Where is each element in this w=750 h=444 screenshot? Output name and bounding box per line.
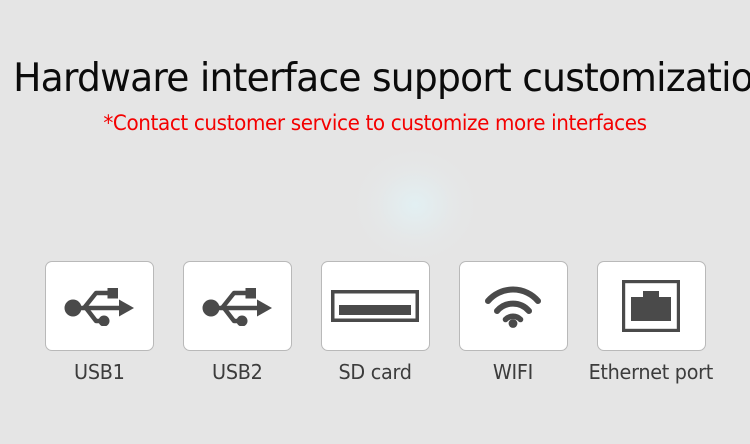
- usb-icon: [202, 286, 272, 326]
- usb1-icon-box[interactable]: [45, 261, 154, 351]
- interface-item-sd-card[interactable]: SD card: [312, 261, 438, 385]
- interface-item-usb1[interactable]: USB1: [36, 261, 162, 385]
- interface-label-ethernet-port: Ethernet port: [589, 359, 713, 385]
- sd-card-icon-box[interactable]: [321, 261, 430, 351]
- interface-item-usb2[interactable]: USB2: [174, 261, 300, 385]
- interface-label-wifi: WIFI: [493, 359, 533, 385]
- page-title: Hardware interface support customization: [13, 57, 737, 101]
- page-subtitle-note: *Contact customer service to customize m…: [19, 110, 732, 136]
- ethernet-rj45-icon: [622, 280, 680, 332]
- wifi-icon: [485, 284, 541, 328]
- ethernet-icon-box[interactable]: [597, 261, 706, 351]
- background-glow: [355, 150, 475, 260]
- sd-card-slot-icon: [331, 290, 419, 322]
- interface-label-usb1: USB1: [74, 359, 124, 385]
- interface-item-ethernet-port[interactable]: Ethernet port: [588, 261, 714, 385]
- interface-label-usb2: USB2: [212, 359, 262, 385]
- usb-icon: [64, 286, 134, 326]
- interface-label-sd-card: SD card: [338, 359, 411, 385]
- interface-item-wifi[interactable]: WIFI: [450, 261, 576, 385]
- usb2-icon-box[interactable]: [183, 261, 292, 351]
- wifi-icon-box[interactable]: [459, 261, 568, 351]
- interface-list: USB1: [36, 261, 714, 391]
- hardware-interface-panel: Hardware interface support customization…: [0, 0, 750, 444]
